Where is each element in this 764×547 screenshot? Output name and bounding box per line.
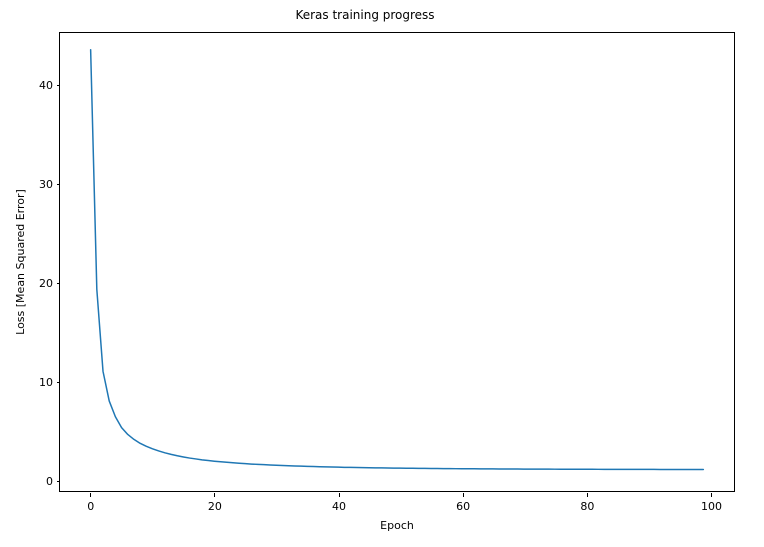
matplotlib-figure: Keras training progress 010203040 020406… xyxy=(0,0,764,547)
x-tick-mark xyxy=(711,493,712,497)
x-tick-label: 100 xyxy=(701,499,722,514)
x-tick-mark xyxy=(587,493,588,497)
plot-axes: 010203040 020406080100 xyxy=(59,32,735,492)
chart-title: Keras training progress xyxy=(0,8,747,22)
x-tick-mark xyxy=(463,493,464,497)
y-tick-label: 0 xyxy=(46,474,53,490)
y-tick-label: 40 xyxy=(39,78,53,94)
x-axis-label: Epoch xyxy=(59,519,735,532)
y-tick-label: 30 xyxy=(39,177,53,193)
x-tick-mark xyxy=(214,493,215,497)
loss-curve-svg xyxy=(60,33,734,491)
x-tick-label: 20 xyxy=(208,499,222,514)
x-tick-label: 40 xyxy=(332,499,346,514)
y-tick-label: 10 xyxy=(39,375,53,391)
y-axis-label: Loss [Mean Squared Error] xyxy=(14,32,30,492)
x-tick-mark xyxy=(339,493,340,497)
loss-line xyxy=(91,50,704,470)
x-tick-label: 0 xyxy=(87,499,94,514)
x-tick-label: 80 xyxy=(580,499,594,514)
x-tick-mark xyxy=(90,493,91,497)
y-tick-label: 20 xyxy=(39,276,53,292)
x-tick-label: 60 xyxy=(456,499,470,514)
